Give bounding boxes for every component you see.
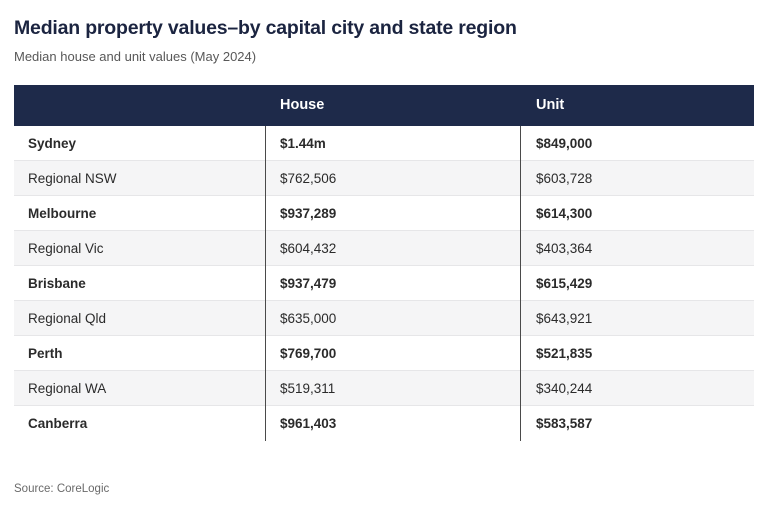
cell-house-value: $937,289 (265, 196, 520, 231)
cell-house-value: $635,000 (265, 301, 520, 336)
table-header-row: House Unit (14, 85, 754, 126)
column-divider-unit (520, 126, 521, 441)
cell-house-value: $769,700 (265, 336, 520, 371)
column-header-region (14, 85, 265, 126)
cell-region: Canberra (14, 406, 265, 441)
cell-unit-value: $615,429 (520, 266, 754, 301)
table-body: Sydney$1.44m$849,000Regional NSW$762,506… (14, 126, 754, 441)
cell-house-value: $762,506 (265, 161, 520, 196)
cell-unit-value: $614,300 (520, 196, 754, 231)
column-divider-house (265, 126, 266, 441)
cell-region: Sydney (14, 126, 265, 161)
source-note: Source: CoreLogic (14, 483, 109, 497)
cell-house-value: $961,403 (265, 406, 520, 441)
table-row: Regional Qld$635,000$643,921 (14, 301, 754, 336)
property-values-table-container: House Unit Sydney$1.44m$849,000Regional … (14, 85, 754, 441)
chart-card: Median property values–by capital city a… (0, 0, 768, 508)
cell-region: Brisbane (14, 266, 265, 301)
cell-unit-value: $643,921 (520, 301, 754, 336)
cell-region: Melbourne (14, 196, 265, 231)
cell-unit-value: $403,364 (520, 231, 754, 266)
cell-region: Regional WA (14, 371, 265, 406)
column-header-house: House (265, 85, 520, 126)
table-row: Perth$769,700$521,835 (14, 336, 754, 371)
cell-unit-value: $849,000 (520, 126, 754, 161)
page-subtitle: Median house and unit values (May 2024) (14, 40, 754, 65)
cell-region: Regional NSW (14, 161, 265, 196)
table-row: Brisbane$937,479$615,429 (14, 266, 754, 301)
cell-region: Regional Vic (14, 231, 265, 266)
cell-unit-value: $583,587 (520, 406, 754, 441)
table-header: House Unit (14, 85, 754, 126)
table-row: Regional Vic$604,432$403,364 (14, 231, 754, 266)
cell-unit-value: $340,244 (520, 371, 754, 406)
cell-unit-value: $521,835 (520, 336, 754, 371)
property-values-table: House Unit Sydney$1.44m$849,000Regional … (14, 85, 754, 441)
cell-house-value: $937,479 (265, 266, 520, 301)
column-header-unit: Unit (520, 85, 754, 126)
table-row: Sydney$1.44m$849,000 (14, 126, 754, 161)
table-row: Melbourne$937,289$614,300 (14, 196, 754, 231)
cell-unit-value: $603,728 (520, 161, 754, 196)
cell-region: Perth (14, 336, 265, 371)
cell-house-value: $1.44m (265, 126, 520, 161)
cell-house-value: $604,432 (265, 231, 520, 266)
cell-house-value: $519,311 (265, 371, 520, 406)
cell-region: Regional Qld (14, 301, 265, 336)
page-title: Median property values–by capital city a… (14, 0, 754, 40)
table-row: Canberra$961,403$583,587 (14, 406, 754, 441)
table-row: Regional NSW$762,506$603,728 (14, 161, 754, 196)
table-row: Regional WA$519,311$340,244 (14, 371, 754, 406)
